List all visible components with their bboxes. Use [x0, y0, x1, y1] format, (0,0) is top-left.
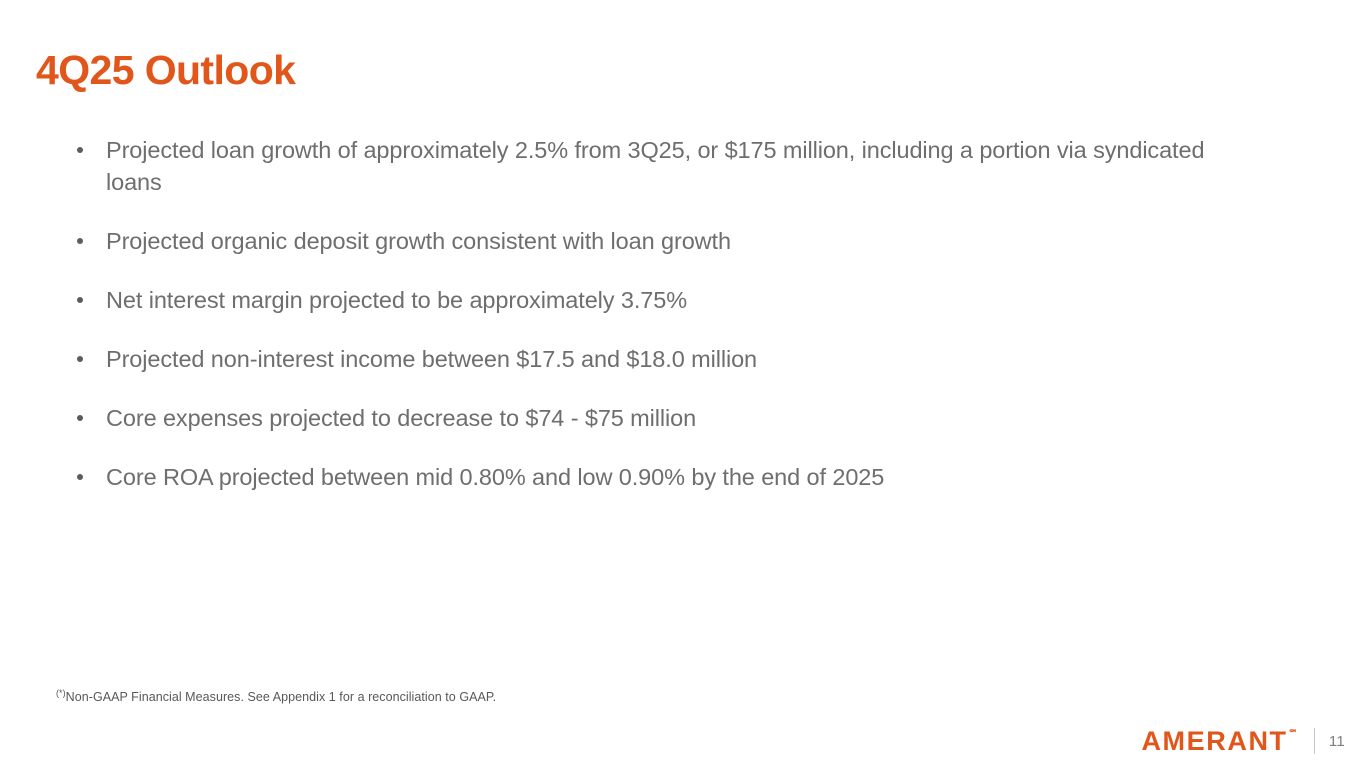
- bullet-dot-icon: [77, 297, 83, 303]
- footnote: (*)Non-GAAP Financial Measures. See Appe…: [56, 690, 496, 704]
- footnote-text: Non-GAAP Financial Measures. See Appendi…: [66, 690, 497, 704]
- list-item: Projected non-interest income between $1…: [70, 343, 1250, 375]
- slide-4q25-outlook: 4Q25 Outlook Projected loan growth of ap…: [0, 0, 1365, 768]
- page-title: 4Q25 Outlook: [36, 47, 295, 94]
- list-item-text: Projected loan growth of approximately 2…: [106, 134, 1250, 198]
- list-item: Core expenses projected to decrease to $…: [70, 402, 1250, 434]
- footer-divider: [1314, 728, 1315, 754]
- amerant-logo: AMERANT ℠: [1141, 728, 1297, 755]
- list-item-text: Net interest margin projected to be appr…: [106, 284, 1250, 316]
- bullet-dot-icon: [77, 415, 83, 421]
- bullet-dot-icon: [77, 238, 83, 244]
- trademark-icon: ℠: [1289, 729, 1298, 738]
- bullet-dot-icon: [77, 474, 83, 480]
- slide-footer: AMERANT ℠ 11: [1141, 726, 1345, 756]
- list-item-text: Projected organic deposit growth consist…: [106, 225, 1250, 257]
- list-item-text: Core ROA projected between mid 0.80% and…: [106, 461, 1250, 493]
- list-item-text: Projected non-interest income between $1…: [106, 343, 1250, 375]
- list-item-text: Core expenses projected to decrease to $…: [106, 402, 1250, 434]
- list-item: Projected loan growth of approximately 2…: [70, 134, 1250, 198]
- list-item: Projected organic deposit growth consist…: [70, 225, 1250, 257]
- outlook-bullet-list: Projected loan growth of approximately 2…: [70, 134, 1250, 493]
- list-item: Core ROA projected between mid 0.80% and…: [70, 461, 1250, 493]
- footnote-marker: (*): [56, 688, 66, 698]
- list-item: Net interest margin projected to be appr…: [70, 284, 1250, 316]
- bullet-dot-icon: [77, 356, 83, 362]
- bullet-dot-icon: [77, 147, 83, 153]
- page-number: 11: [1329, 733, 1345, 750]
- logo-wordmark: AMERANT: [1141, 728, 1287, 755]
